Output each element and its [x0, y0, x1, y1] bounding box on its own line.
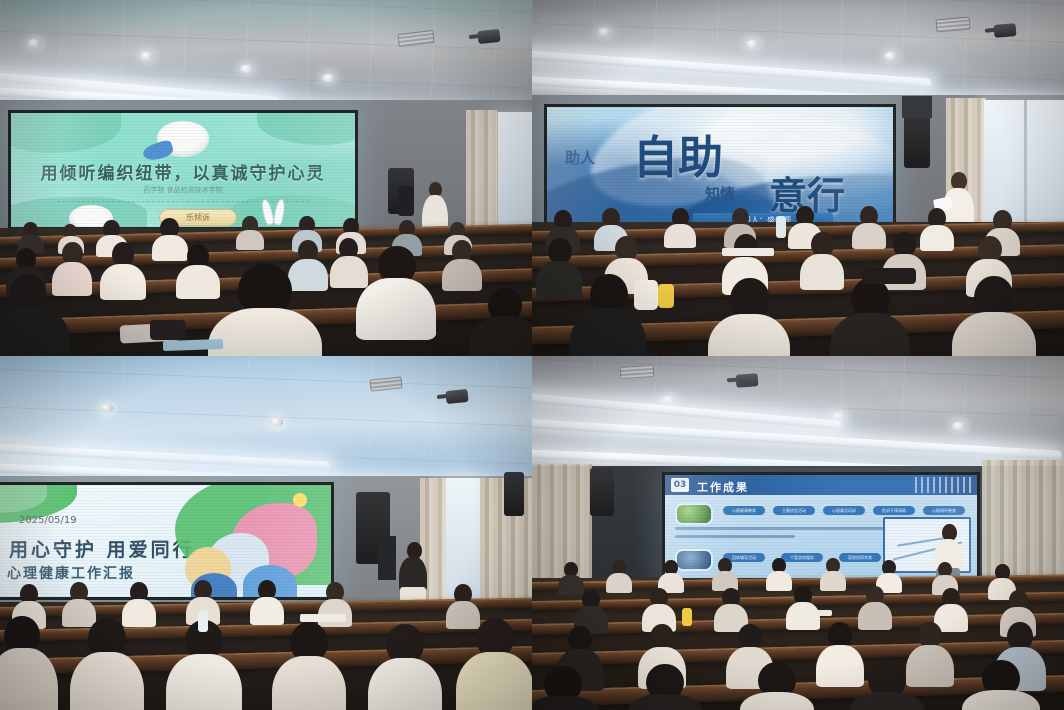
paper-on-desk: [722, 248, 774, 256]
audience-member: [356, 246, 436, 332]
audience-area: [532, 222, 1064, 356]
ceiling-spotlight: [140, 52, 153, 60]
door-frame: [902, 96, 932, 118]
audience-member: [852, 206, 886, 244]
slide-photo-thumb: [675, 503, 713, 525]
audience-member: [962, 660, 1040, 710]
audience-member: [558, 562, 584, 592]
audience-member: [664, 208, 696, 244]
audience-member: [712, 558, 738, 588]
ceiling-camera-icon: [445, 389, 468, 404]
audience-member: [166, 620, 242, 710]
curtain: [466, 110, 498, 238]
audience-member: [820, 558, 846, 588]
water-bottle: [198, 610, 208, 632]
slide-section-title: 工作成果: [697, 479, 749, 495]
audience-member: [858, 586, 892, 626]
audience-member: [800, 232, 844, 284]
ceiling-camera-icon: [993, 23, 1016, 38]
photo-panel-bottom-right: 03 工作成果 心理健康教育 主题班会活动 心理委员培训 危机干预演练 心理测评…: [532, 356, 1064, 710]
tablet-on-desk: [163, 339, 223, 351]
audience-member: [272, 622, 346, 710]
slide-line1-big: 自助: [633, 121, 723, 186]
slide-tag: 主题班会活动: [773, 506, 815, 515]
led-screen: 用倾听编织纽带，以真诚守护心灵 药学院 食品检测技术学院 乐倾诉: [8, 110, 358, 230]
photo-panel-top-left: 用倾听编织纽带，以真诚守护心灵 药学院 食品检测技术学院 乐倾诉: [0, 0, 532, 356]
audience-member: [714, 588, 748, 628]
slide-tag: 心理委员培训: [823, 506, 865, 515]
audience-area: [0, 228, 532, 356]
tripod-equipment: [378, 536, 396, 580]
audience-member: [574, 590, 608, 630]
plush-toy: [634, 280, 658, 310]
slide-tag: 心理测评普查: [923, 506, 965, 515]
audience-member: [250, 580, 284, 620]
wall-speaker: [504, 472, 524, 516]
audience-member: [442, 240, 482, 288]
slide-line2-small: 知情: [705, 183, 735, 204]
wall-speaker: [590, 468, 614, 516]
audience-member: [628, 664, 702, 710]
audience-member: [208, 264, 322, 356]
photo-collage: 用倾听编织纽带，以真诚守护心灵 药学院 食品检测技术学院 乐倾诉: [0, 0, 1064, 710]
water-bottle: [658, 284, 674, 308]
bag-on-desk: [862, 268, 916, 284]
audience-member: [70, 618, 144, 710]
audience-member: [952, 276, 1036, 356]
audience-member: [122, 582, 156, 622]
audience-member: [786, 586, 820, 626]
audience-member: [470, 288, 532, 356]
water-bottle: [682, 608, 692, 626]
slide-title: 用心守护 用爱同行: [9, 535, 195, 562]
slide-title: 用倾听编织纽带，以真诚守护心灵: [11, 159, 355, 184]
ceiling-camera-icon: [736, 373, 759, 388]
slide-tag: 心理健康教育: [723, 506, 765, 515]
paper-on-desk: [300, 614, 346, 622]
audience-member: [708, 278, 790, 356]
slide-dot-pattern: [915, 477, 973, 493]
ceiling-spotlight: [100, 404, 113, 412]
slide-content: 用倾听编织纽带，以真诚守护心灵 药学院 食品检测技术学院 乐倾诉: [11, 113, 355, 227]
audience-area: [0, 602, 532, 710]
slide-divider: [57, 201, 309, 202]
ceiling-spotlight: [884, 52, 897, 60]
slide-subtitle: 药学院 食品检测技术学院: [11, 185, 355, 195]
slide-tag: 危机干预演练: [873, 506, 915, 515]
photo-panel-bottom-left: 2025/05/19 用心守护 用爱同行 心理健康工作汇报: [0, 356, 532, 710]
audience-member: [18, 222, 44, 248]
speaker-box: [904, 112, 930, 168]
ceiling-spotlight: [598, 28, 611, 36]
audience-member: [658, 560, 684, 590]
ceiling-vent: [620, 365, 655, 379]
audience-member: [532, 666, 600, 710]
ceiling-spotlight: [240, 65, 253, 73]
ceiling-green-reflection: [0, 0, 532, 44]
illustration-sun-icon: [293, 493, 307, 507]
audience-member: [642, 588, 676, 628]
slide-subtitle: 心理健康工作汇报: [7, 563, 135, 583]
audience-member: [0, 274, 70, 356]
tripod-equipment: [398, 186, 414, 216]
audience-member: [236, 216, 264, 246]
audience-member: [0, 616, 58, 710]
audience-member: [830, 278, 910, 356]
audience-member: [606, 560, 632, 590]
slide-date: 2025/05/19: [19, 515, 77, 526]
ceiling-spotlight: [952, 422, 965, 430]
window: [496, 112, 532, 232]
audience-member: [368, 624, 442, 710]
slide-line1-small: 助人: [565, 147, 595, 168]
ceiling-spotlight: [662, 396, 675, 404]
audience-member: [850, 662, 924, 710]
audience-member: [766, 558, 792, 588]
audience-member: [456, 618, 532, 710]
audience-member: [740, 662, 814, 710]
audience-member: [100, 242, 146, 294]
photo-panel-top-right: 助人 自助 知情 意行 汇报人：盛缘圆: [532, 0, 1064, 356]
audience-member: [62, 582, 96, 622]
ceiling-spotlight: [270, 418, 283, 426]
ceiling-spotlight: [746, 40, 759, 48]
water-bottle: [776, 216, 786, 238]
audience-area: [532, 578, 1064, 710]
slide-body-line: [675, 535, 795, 538]
paper-on-desk: [794, 610, 832, 616]
ceiling-spotlight: [832, 412, 845, 420]
slide-section-number: 03: [671, 478, 689, 492]
bag-on-desk: [150, 320, 186, 340]
ceiling-spotlight: [322, 74, 335, 82]
